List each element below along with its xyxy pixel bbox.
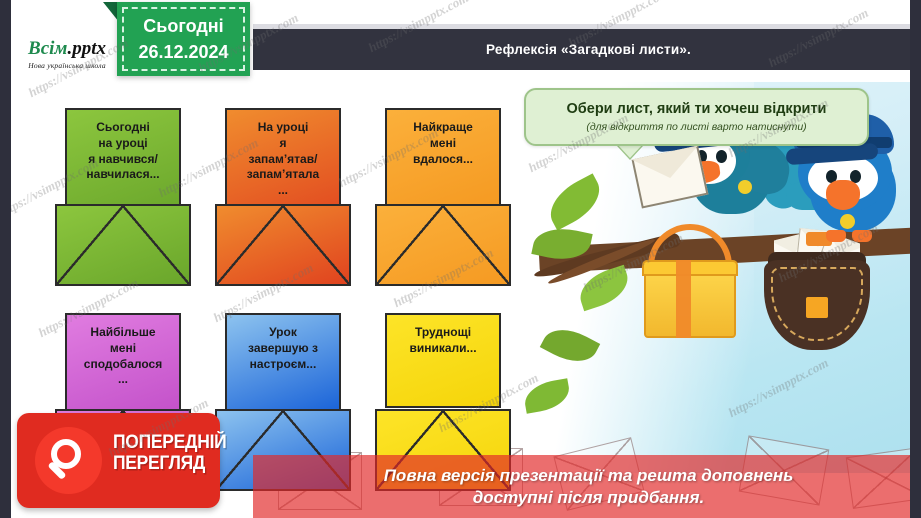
envelope-text-line: сподобалося bbox=[84, 357, 162, 373]
header-bar: Рефлексія «Загадкові листи». bbox=[253, 29, 921, 70]
envelope-text-line: На уроці bbox=[258, 120, 309, 136]
envelope-text-line: мені bbox=[110, 341, 136, 357]
envelope-pocket bbox=[55, 204, 191, 286]
slide-canvas: Сьогодні на уроці я навчився/ навчилася.… bbox=[0, 0, 921, 518]
bird-beak bbox=[826, 180, 860, 210]
date-badge-value: 26.12.2024 bbox=[138, 39, 228, 65]
logo-text: Всім.pptx bbox=[28, 39, 106, 58]
envelope-text-line: Урок bbox=[269, 325, 297, 341]
envelope-text-line: навчилася... bbox=[86, 167, 159, 183]
bubble-tail bbox=[617, 144, 643, 158]
envelope-text-line: мені bbox=[430, 136, 456, 152]
envelope-text-line: я навчився/ bbox=[88, 152, 158, 168]
parcel-strap bbox=[676, 260, 691, 338]
bubble-title: Обери лист, який ти хочеш відкрити bbox=[567, 101, 827, 118]
date-badge-label: Сьогодні bbox=[143, 13, 223, 39]
envelope-text-line: вдалося... bbox=[413, 152, 473, 168]
envelope-text-line: на уроці bbox=[98, 136, 147, 152]
logo-text-prefix: Всім bbox=[28, 38, 67, 59]
date-badge: Сьогодні 26.12.2024 bbox=[117, 2, 250, 76]
preview-badge-line-1: ПОПЕРЕДНІЙ bbox=[113, 433, 226, 454]
envelope-text-line: настроєм... bbox=[250, 357, 317, 373]
envelope-text-line: ... bbox=[118, 372, 128, 388]
bird-eye bbox=[716, 150, 727, 163]
instruction-bubble: Обери лист, який ти хочеш відкрити (для … bbox=[524, 88, 869, 146]
preview-badge-line-2: ПЕРЕГЛЯД bbox=[113, 454, 205, 475]
envelope-today-learned[interactable]: Сьогодні на уроці я навчився/ навчилася.… bbox=[65, 108, 181, 286]
bird-button bbox=[738, 180, 752, 194]
bubble-subtitle: (для відкриття по листі варто натиснути) bbox=[586, 121, 806, 133]
envelope-paper: Урок завершую з настроєм... bbox=[225, 313, 341, 413]
envelope-text-line: я bbox=[279, 136, 286, 152]
slide-frame-left bbox=[3, 0, 11, 518]
envelope-pocket bbox=[215, 204, 351, 286]
envelope-text-line: Найбільше bbox=[90, 325, 155, 341]
purchase-banner: Повна версія презентації та решта доповн… bbox=[253, 455, 921, 518]
envelope-text-line: Сьогодні bbox=[96, 120, 150, 136]
logo-text-suffix: .pptx bbox=[67, 38, 106, 59]
magnifier-icon bbox=[35, 427, 102, 494]
envelope-paper: Найкраще мені вдалося... bbox=[385, 108, 501, 208]
envelope-text-line: ... bbox=[278, 183, 288, 199]
envelope-text-line: запам’ятала bbox=[247, 167, 319, 183]
envelope-remembered[interactable]: На уроці я запам’ятав/ запам’ятала ... bbox=[225, 108, 341, 286]
envelope-text-line: Найкраще bbox=[413, 120, 473, 136]
brand-logo[interactable]: Всім.pptx Нова українська школа bbox=[11, 29, 123, 79]
bird-foot bbox=[826, 230, 846, 242]
banner-line-1: Повна версія презентації та решта доповн… bbox=[384, 465, 794, 487]
logo-subtitle: Нова українська школа bbox=[28, 61, 106, 70]
envelope-text-line: запам’ятав/ bbox=[249, 152, 318, 168]
envelope-text-line: завершую з bbox=[248, 341, 318, 357]
envelope-best-managed[interactable]: Найкраще мені вдалося... bbox=[385, 108, 501, 286]
envelope-text-line: виникали... bbox=[409, 341, 476, 357]
bird-button bbox=[840, 214, 855, 229]
envelope-pocket bbox=[375, 204, 511, 286]
envelope-text-line: Труднощі bbox=[415, 325, 471, 341]
mail-bag-badge bbox=[806, 297, 828, 318]
preview-badge[interactable]: ПОПЕРЕДНІЙ ПЕРЕГЛЯД bbox=[17, 413, 220, 508]
banner-line-2: доступні після придбання. bbox=[473, 487, 704, 509]
envelope-paper: Труднощі виникали... bbox=[385, 313, 501, 408]
slide-frame-right bbox=[910, 0, 918, 518]
bird-foot bbox=[852, 230, 872, 242]
preview-badge-text: ПОПЕРЕДНІЙ ПЕРЕГЛЯД bbox=[113, 433, 213, 474]
page-title: Рефлексія «Загадкові листи». bbox=[486, 42, 691, 57]
